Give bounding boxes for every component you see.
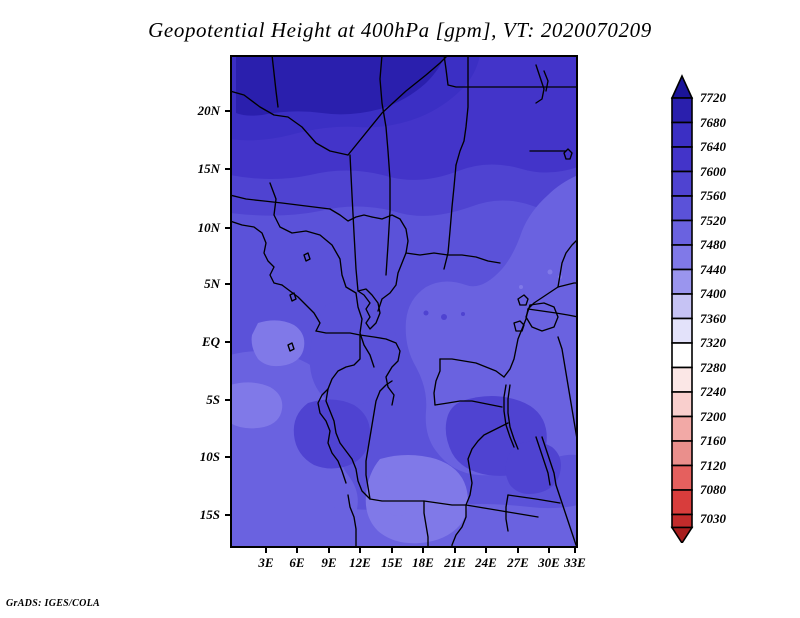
colorbar-label-7680: 7680 — [700, 115, 726, 131]
ytick-mark — [225, 514, 230, 516]
colorbar-label-7440: 7440 — [700, 262, 726, 278]
ytick-mark — [225, 110, 230, 112]
geopotential-height-heatmap — [230, 55, 578, 548]
ytick-label-5s: 5S — [170, 392, 220, 408]
colorbar-label-7240: 7240 — [700, 384, 726, 400]
xtick-mark — [548, 548, 550, 553]
colorbar[interactable]: 7720 7680 7640 7600 7560 7520 7480 7440 … — [668, 58, 798, 548]
colorbar-label-7520: 7520 — [700, 213, 726, 229]
xtick-mark — [359, 548, 361, 553]
colorbar-label-7400: 7400 — [700, 286, 726, 302]
map-plot-area[interactable] — [230, 55, 578, 548]
colorbar-label-7560: 7560 — [700, 188, 726, 204]
ytick-label-10s: 10S — [170, 449, 220, 465]
xtick-label-33e: 33E — [552, 555, 598, 571]
xtick-mark — [265, 548, 267, 553]
ytick-label-eq: EQ — [170, 334, 220, 350]
ytick-label-5n: 5N — [170, 276, 220, 292]
ytick-mark — [225, 168, 230, 170]
colorbar-label-7360: 7360 — [700, 311, 726, 327]
colorbar-label-7160: 7160 — [700, 433, 726, 449]
colorbar-label-7030: 7030 — [700, 511, 726, 527]
attribution-footer: GrADS: IGES/COLA — [6, 598, 100, 609]
ytick-mark — [225, 456, 230, 458]
ytick-mark — [225, 227, 230, 229]
ytick-label-20n: 20N — [170, 103, 220, 119]
ytick-label-10n: 10N — [170, 220, 220, 236]
colorbar-label-7640: 7640 — [700, 139, 726, 155]
colorbar-label-7600: 7600 — [700, 164, 726, 180]
xtick-mark — [328, 548, 330, 553]
xtick-mark — [454, 548, 456, 553]
colorbar-label-7280: 7280 — [700, 360, 726, 376]
ytick-mark — [225, 399, 230, 401]
colorbar-label-7200: 7200 — [700, 409, 726, 425]
colorbar-label-7320: 7320 — [700, 335, 726, 351]
colorbar-label-7120: 7120 — [700, 458, 726, 474]
colorbar-label-7720: 7720 — [700, 90, 726, 106]
page-title: Geopotential Height at 400hPa [gpm], VT:… — [0, 18, 800, 43]
xtick-mark — [422, 548, 424, 553]
xtick-mark — [391, 548, 393, 553]
ytick-label-15s: 15S — [170, 507, 220, 523]
xtick-mark — [485, 548, 487, 553]
ytick-mark — [225, 283, 230, 285]
colorbar-label-7480: 7480 — [700, 237, 726, 253]
ytick-mark — [225, 341, 230, 343]
ytick-label-15n: 15N — [170, 161, 220, 177]
xtick-mark — [296, 548, 298, 553]
colorbar-label-7080: 7080 — [700, 482, 726, 498]
xtick-mark — [574, 548, 576, 553]
xtick-mark — [517, 548, 519, 553]
